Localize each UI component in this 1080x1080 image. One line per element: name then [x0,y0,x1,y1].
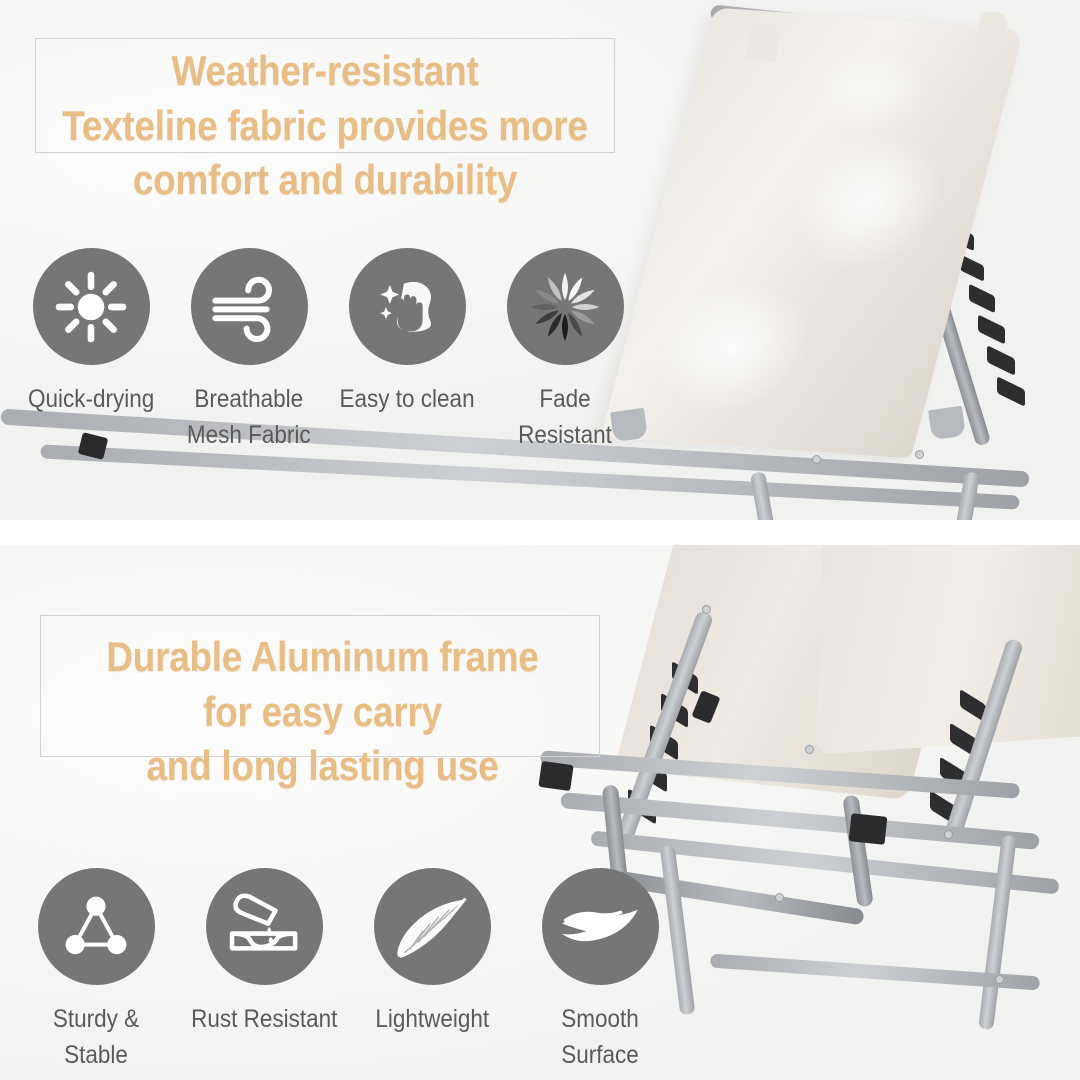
feature-label-lightweight: Lightweight [375,1001,489,1037]
triangle-nodes-icon [38,868,155,985]
feature-label-rust-resistant: Rust Resistant [191,1001,337,1037]
frame-panel: Durable Aluminum frame for easy carry an… [0,545,1080,1080]
headline-frame-line-1: Durable Aluminum frame [39,630,607,685]
feature-fade-resistant: Fade Resistant [486,248,644,454]
headline-fabric: Weather-resistant Texteline fabric provi… [39,44,611,208]
feature-easy-to-clean: Easy to clean [328,248,486,417]
wave-leaf-icon [542,868,659,985]
sun-icon [33,248,150,365]
feature-lightweight: Lightweight [348,868,516,1037]
feature-label-breathable: Breathable Mesh Fabric [187,381,311,454]
feature-label-fade-resistant: Fade Resistant [494,381,636,454]
feature-label-sturdy-stable: Sturdy & Stable [20,1001,171,1074]
feature-row-frame: Sturdy & Stable Rust Resistant [12,868,684,1074]
product-feature-infographic: Weather-resistant Texteline fabric provi… [0,0,1080,1080]
headline-frame-line-2: for easy carry [39,685,607,740]
feature-label-quick-drying: Quick-drying [28,381,154,417]
feature-sturdy-stable: Sturdy & Stable [12,868,180,1074]
feature-quick-drying: Quick-drying [12,248,170,417]
panel-divider [0,520,1080,545]
wiping-hand-icon [349,248,466,365]
feature-rust-resistant: Rust Resistant [180,868,348,1037]
headline-fabric-line-2: Texteline fabric provides more [39,99,611,154]
feature-label-smooth-surface: Smooth Surface [524,1001,675,1074]
feather-icon [374,868,491,985]
headline-fabric-line-3: comfort and durability [39,153,611,208]
color-wheel-icon [507,248,624,365]
feature-breathable: Breathable Mesh Fabric [170,248,328,454]
headline-fabric-line-1: Weather-resistant [39,44,611,99]
test-tube-icon [206,868,323,985]
feature-row-fabric: Quick-drying Breathable Mesh Fabric [12,248,644,454]
feature-smooth-surface: Smooth Surface [516,868,684,1074]
feature-label-easy-to-clean: Easy to clean [339,381,474,417]
wind-icon [191,248,308,365]
headline-frame: Durable Aluminum frame for easy carry an… [39,630,607,794]
headline-frame-line-3: and long lasting use [39,739,607,794]
fabric-panel: Weather-resistant Texteline fabric provi… [0,0,1080,520]
